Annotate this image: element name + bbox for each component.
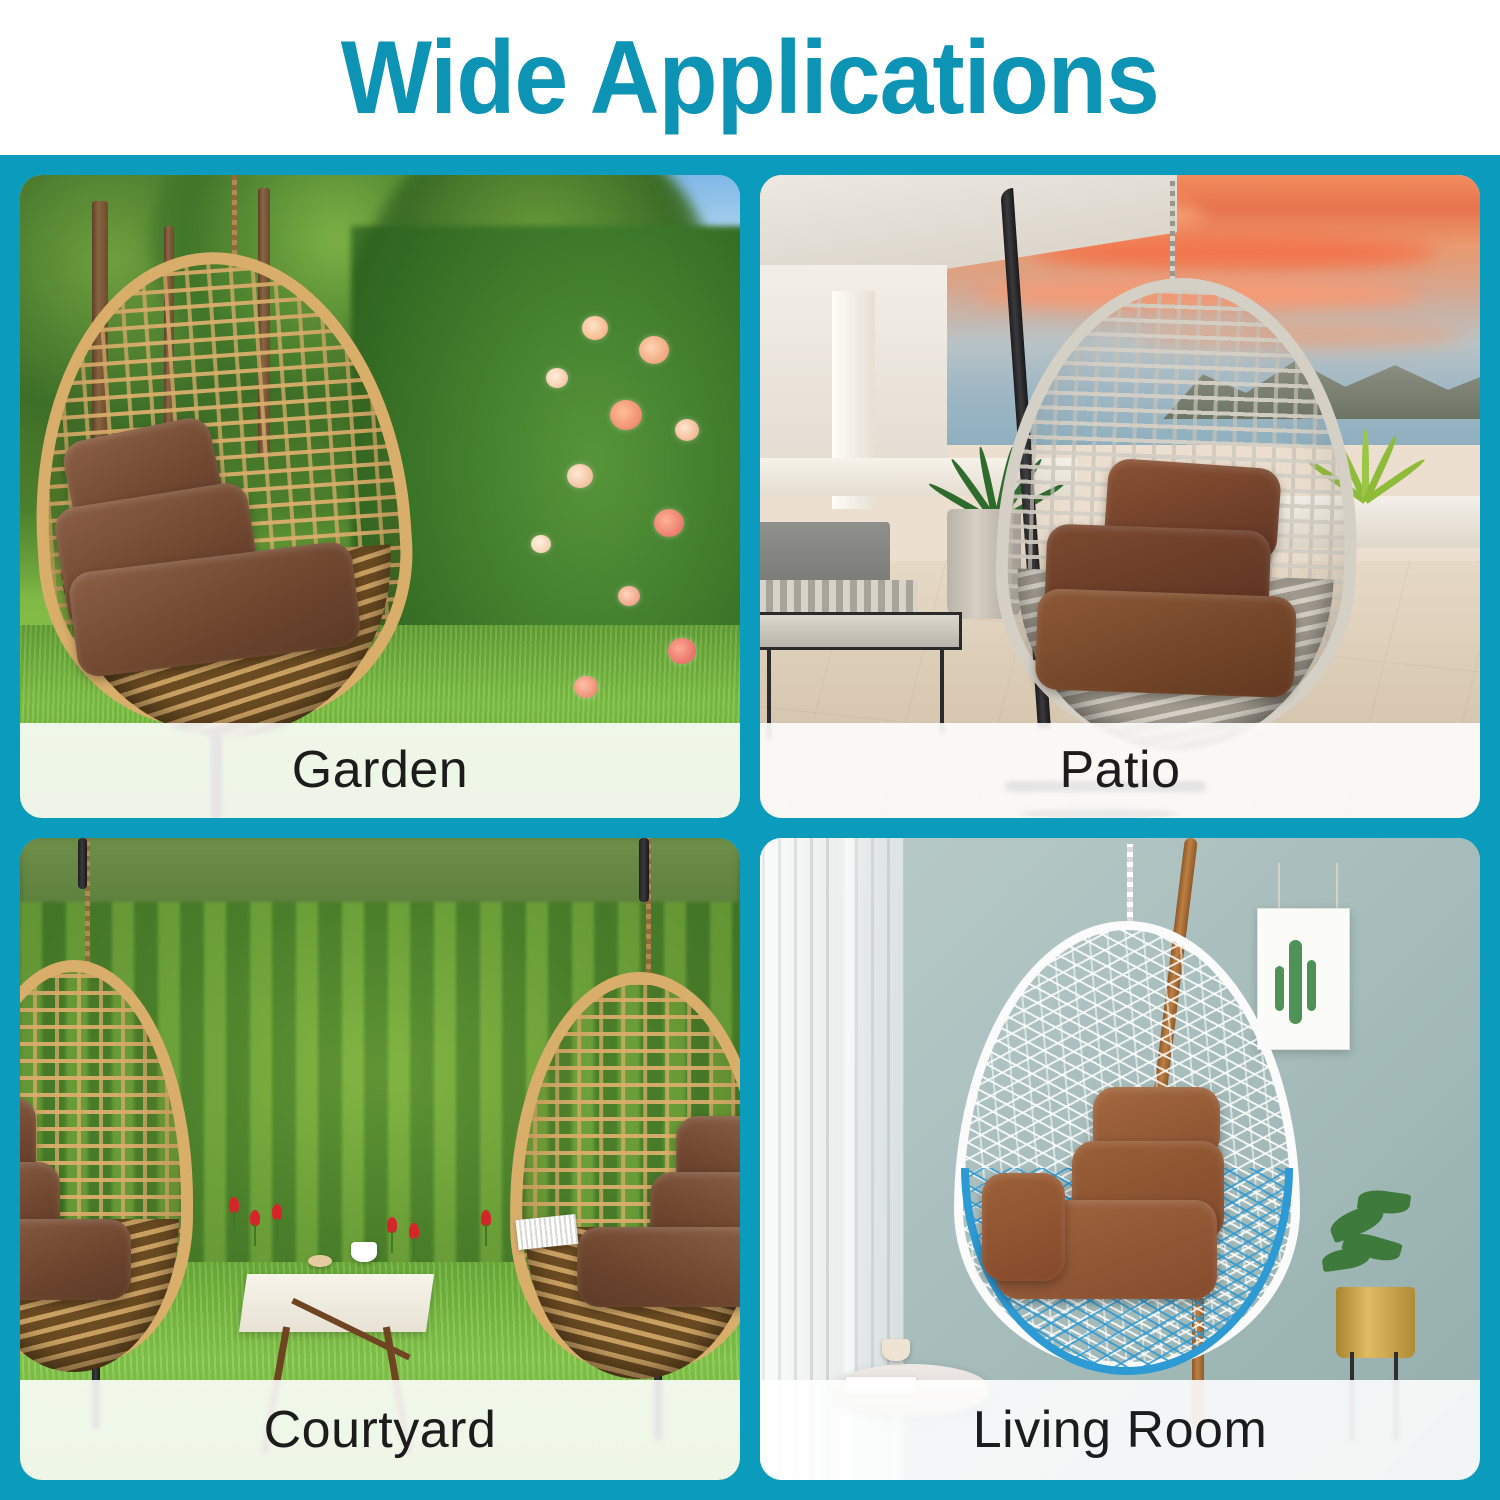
application-panel-patio[interactable]: Patio (760, 175, 1480, 818)
patio-photo (760, 175, 1480, 818)
page-header: Wide Applications (0, 0, 1500, 155)
panel-label-garden: Garden (292, 744, 468, 796)
panel-label-patio: Patio (1059, 744, 1180, 796)
panel-label-band: Courtyard (20, 1380, 740, 1480)
panel-label-band: Patio (760, 723, 1480, 818)
application-grid: Garden (0, 155, 1500, 1500)
garden-photo (20, 175, 740, 818)
application-panel-garden[interactable]: Garden (20, 175, 740, 818)
infographic-page: Wide Applications (0, 0, 1500, 1500)
panel-label-courtyard: Courtyard (264, 1404, 497, 1456)
panel-label-band: Living Room (760, 1380, 1480, 1480)
page-title: Wide Applications (341, 26, 1159, 130)
application-panel-living-room[interactable]: Living Room (760, 838, 1480, 1481)
panel-label-living-room: Living Room (973, 1404, 1268, 1456)
application-panel-courtyard[interactable]: Courtyard (20, 838, 740, 1481)
panel-label-band: Garden (20, 723, 740, 818)
